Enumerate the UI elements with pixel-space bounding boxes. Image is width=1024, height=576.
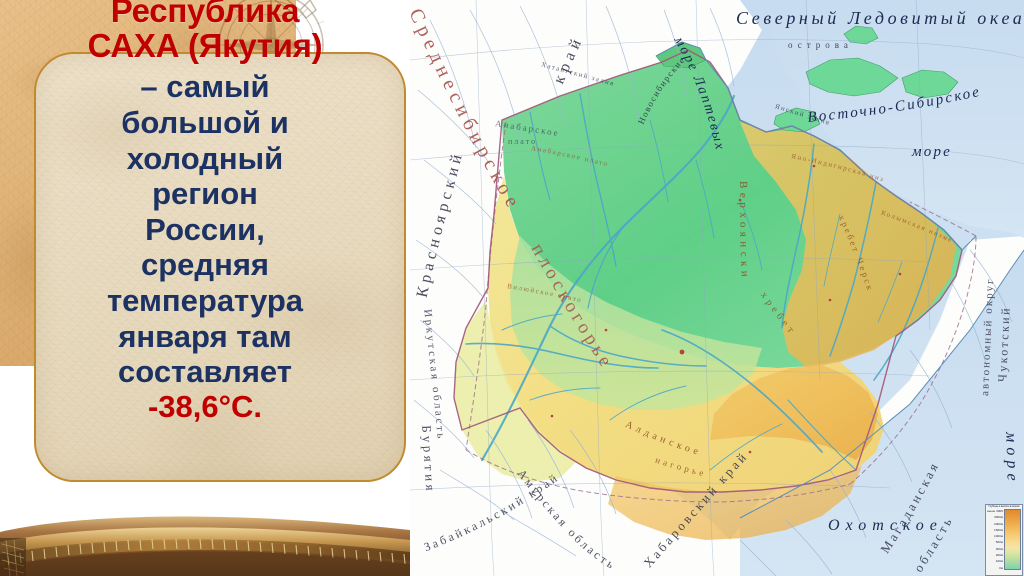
ocean-label-arctic: Северный Ледовитый океан — [736, 8, 1024, 28]
text-panel: Республика САХА (Якутия) – самый большой… — [0, 0, 410, 576]
body-line-9: составляет — [18, 356, 392, 388]
legend-tick: 1500м — [987, 528, 1003, 532]
svg-text:море: море — [1002, 431, 1020, 486]
body-line-4: регион — [18, 178, 392, 210]
legend-tick: выше 3000 — [987, 509, 1003, 513]
body-line-7: температура — [18, 285, 392, 317]
body-line-2: большой и — [18, 107, 392, 139]
svg-text:Охотское: Охотское — [828, 517, 943, 534]
legend-tick: 100м — [987, 559, 1003, 563]
brass-compass-image — [0, 514, 410, 576]
svg-text:море: море — [911, 144, 952, 160]
legend-color-ramp — [1004, 509, 1021, 570]
body-line-3: холодный — [18, 143, 392, 175]
title-line-2: САХА (Якутия) — [18, 29, 392, 63]
legend-tick: 3000м — [987, 515, 1003, 519]
legend-tick: 300м — [987, 547, 1003, 551]
legend-tick: 1000м — [987, 534, 1003, 538]
svg-text:острова: острова — [788, 40, 853, 50]
legend-tick: 2000м — [987, 522, 1003, 526]
elevation-legend: Глубины и высоты в метрах выше 3000 3000… — [985, 504, 1023, 576]
title-line-1: Республика — [18, 0, 392, 28]
legend-tick: 500м — [987, 540, 1003, 544]
physical-map-yakutia: Северный Ледовитый океан море Лаптевых В… — [410, 0, 1024, 576]
body-line-6: средняя — [18, 249, 392, 281]
body-line-5: России, — [18, 214, 392, 246]
svg-text:плато: плато — [508, 137, 537, 146]
legend-tick: 200м — [987, 553, 1003, 557]
map-canvas: Северный Ледовитый океан море Лаптевых В… — [410, 0, 1024, 576]
body-line-8: января там — [18, 321, 392, 353]
body-line-1: – самый — [18, 71, 392, 103]
presentation-slide: Республика САХА (Якутия) – самый большой… — [0, 0, 1024, 576]
legend-tick-list: выше 3000 3000м 2000м 1500м 1000м 500м 3… — [987, 509, 1004, 570]
temperature-value: -38,6°C. — [18, 391, 392, 423]
slide-text-block: Республика САХА (Якутия) – самый большой… — [18, 0, 392, 422]
legend-tick: 0м — [987, 566, 1003, 570]
